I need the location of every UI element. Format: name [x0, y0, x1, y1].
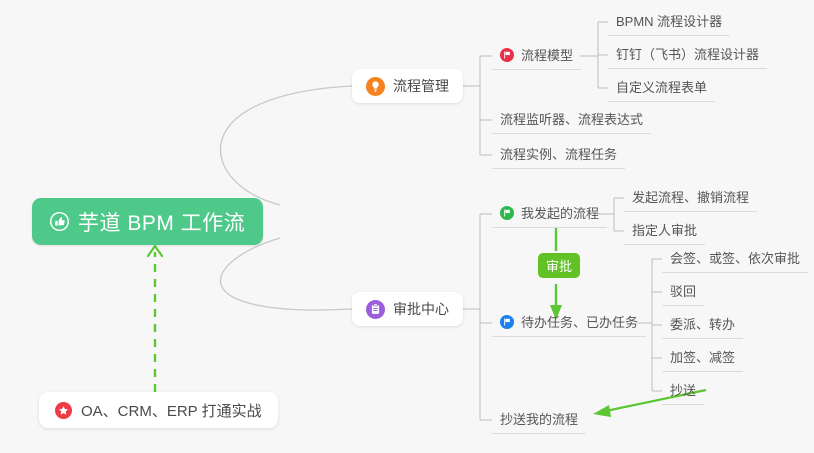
node-custom-form[interactable]: 自定义流程表单 [608, 77, 715, 102]
note-card-integration[interactable]: OA、CRM、ERP 打通实战 [39, 392, 278, 428]
approval-badge: 审批 [538, 253, 580, 278]
flag-icon [500, 48, 514, 62]
flag-icon [500, 315, 514, 329]
thumbs-up-icon [50, 212, 69, 231]
mindmap-canvas: 芋道 BPM 工作流 流程管理 流程模型 BPMN 流程设计器 钉钉（飞书）流程 [0, 0, 814, 453]
node-todo-done-tasks[interactable]: 待办任务、已办任务 [492, 312, 646, 337]
node-label-start-cancel-process: 发起流程、撤销流程 [632, 187, 749, 206]
node-delegate-transfer[interactable]: 委派、转办 [662, 314, 743, 339]
node-label-process-instance: 流程实例、流程任务 [500, 144, 617, 163]
branch-node-process-management[interactable]: 流程管理 [352, 69, 463, 103]
node-label-bpmn-designer: BPMN 流程设计器 [616, 11, 722, 30]
node-label-process-listener: 流程监听器、流程表达式 [500, 109, 643, 128]
branch-label-process-management: 流程管理 [393, 76, 449, 96]
node-dingtalk-designer[interactable]: 钉钉（飞书）流程设计器 [608, 44, 767, 69]
note-card-label: OA、CRM、ERP 打通实战 [81, 400, 262, 421]
connector-root-to-process-management [220, 86, 352, 205]
root-node[interactable]: 芋道 BPM 工作流 [32, 198, 263, 245]
node-cc[interactable]: 抄送 [662, 380, 704, 405]
star-icon [55, 402, 72, 419]
connector-approval-center-bracket [463, 214, 492, 420]
node-label-process-model: 流程模型 [521, 45, 573, 64]
node-label-custom-form: 自定义流程表单 [616, 77, 707, 96]
node-start-cancel-process[interactable]: 发起流程、撤销流程 [624, 187, 757, 212]
node-process-listener[interactable]: 流程监听器、流程表达式 [492, 109, 651, 134]
node-label-cc-to-me: 抄送我的流程 [500, 409, 578, 428]
node-label-dingtalk-designer: 钉钉（飞书）流程设计器 [616, 44, 759, 63]
node-process-model[interactable]: 流程模型 [492, 45, 581, 70]
node-label-my-started-processes: 我发起的流程 [521, 203, 599, 222]
node-assignee-approval[interactable]: 指定人审批 [624, 220, 705, 245]
node-bpmn-designer[interactable]: BPMN 流程设计器 [608, 11, 730, 36]
node-countersign[interactable]: 会签、或签、依次审批 [662, 248, 808, 273]
clipboard-icon [366, 300, 385, 319]
node-add-remove-sign[interactable]: 加签、减签 [662, 347, 743, 372]
connector-root-to-approval-center [220, 238, 352, 310]
node-my-started-processes[interactable]: 我发起的流程 [492, 203, 607, 228]
connector-process-model-bracket [580, 22, 608, 88]
branch-label-approval-center: 审批中心 [393, 299, 449, 319]
lightbulb-icon [366, 77, 385, 96]
approval-badge-label: 审批 [546, 256, 572, 275]
node-reject[interactable]: 驳回 [662, 281, 704, 306]
branch-node-approval-center[interactable]: 审批中心 [352, 292, 463, 326]
root-label: 芋道 BPM 工作流 [78, 207, 245, 237]
note-to-root-dashed-arrow [148, 246, 162, 392]
node-process-instance[interactable]: 流程实例、流程任务 [492, 144, 625, 169]
node-label-todo-done-tasks: 待办任务、已办任务 [521, 312, 638, 331]
node-cc-to-me[interactable]: 抄送我的流程 [492, 409, 586, 434]
node-label-assignee-approval: 指定人审批 [632, 220, 697, 239]
node-label-countersign: 会签、或签、依次审批 [670, 248, 800, 267]
flag-icon [500, 206, 514, 220]
node-label-delegate-transfer: 委派、转办 [670, 314, 735, 333]
node-label-add-remove-sign: 加签、减签 [670, 347, 735, 366]
node-label-reject: 驳回 [670, 281, 696, 300]
connector-process-management-bracket [463, 56, 492, 155]
node-label-cc: 抄送 [670, 380, 696, 399]
